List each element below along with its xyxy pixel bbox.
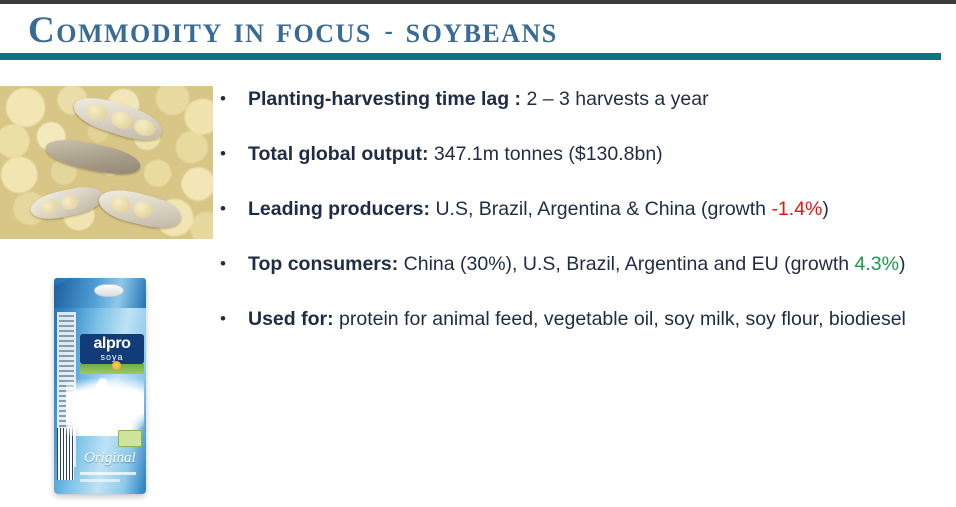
list-item: Leading producers: U.S, Brazil, Argentin… xyxy=(216,190,951,228)
carton-fine-print-line xyxy=(80,472,136,475)
fact-value-tail: ) xyxy=(899,253,906,275)
milk-splash-graphic xyxy=(66,374,144,436)
field-graphic xyxy=(80,364,144,374)
fact-label: Top consumers: xyxy=(248,253,398,275)
fact-value-tail: ) xyxy=(822,198,829,220)
title-underline-rule xyxy=(0,53,941,60)
soybeans-photo xyxy=(0,86,213,239)
page-title-separator: - xyxy=(383,18,395,45)
fact-label: Total global output: xyxy=(248,143,429,165)
carton-body: alpro soya Original xyxy=(54,278,146,494)
growth-figure-negative: -1.4% xyxy=(771,198,822,220)
page-title: Commodity in focus - soybeans xyxy=(28,10,558,53)
fact-value: China (30%), U.S, Brazil, Argentina and … xyxy=(398,253,854,275)
sun-icon xyxy=(112,361,121,370)
fact-value: U.S, Brazil, Argentina & China (growth xyxy=(430,198,771,220)
alpro-soya-carton-photo: alpro soya Original xyxy=(44,258,162,501)
list-item: Total global output: 347.1m tonnes ($130… xyxy=(216,135,951,173)
fact-value: 347.1m tonnes ($130.8bn) xyxy=(429,143,663,165)
list-item: Used for: protein for animal feed, veget… xyxy=(216,300,951,338)
fact-value: 2 – 3 harvests a year xyxy=(521,88,709,110)
sub-brand-name: soya xyxy=(80,352,144,362)
fact-list: Planting-harvesting time lag : 2 – 3 har… xyxy=(216,80,951,355)
plant-based-badge xyxy=(118,430,142,447)
screenshot-top-edge-strip xyxy=(0,0,956,4)
page-title-main: Commodity in focus xyxy=(28,10,372,51)
carton-cap xyxy=(94,284,124,297)
list-item: Top consumers: China (30%), U.S, Brazil,… xyxy=(216,245,951,283)
alpro-logo: alpro soya xyxy=(80,334,144,364)
list-item: Planting-harvesting time lag : 2 – 3 har… xyxy=(216,80,951,118)
page-title-subject: soybeans xyxy=(406,10,558,51)
brand-name: alpro xyxy=(80,335,144,352)
growth-figure-positive: 4.3% xyxy=(855,253,899,275)
carton-fine-print-line xyxy=(80,479,120,482)
fact-label: Used for: xyxy=(248,308,334,330)
fact-label: Planting-harvesting time lag : xyxy=(248,88,521,110)
variant-name: Original xyxy=(84,450,136,467)
fact-value: protein for animal feed, vegetable oil, … xyxy=(334,308,906,330)
fact-label: Leading producers: xyxy=(248,198,430,220)
